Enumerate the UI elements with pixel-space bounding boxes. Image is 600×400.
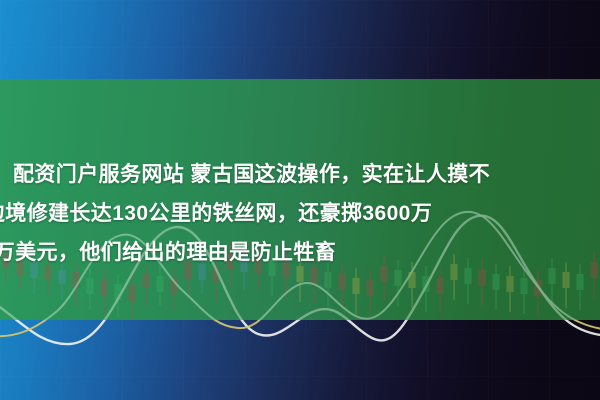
headline-line-1: 配资门户服务网站 蒙古国这波操作，实在让人摸不 bbox=[13, 155, 600, 194]
headline-text: 配资门户服务网站 蒙古国这波操作，实在让人摸不 中蒙边境修建长达130公里的铁丝… bbox=[13, 155, 600, 272]
headline-line-2: 中蒙边境修建长达130公里的铁丝网，还豪掷3600万 bbox=[0, 194, 600, 233]
headline-line-3: 丝网，还豪掷3600万美元，他们给出的理由是防止牲畜 bbox=[0, 233, 600, 272]
banner-image: 配资门户服务网站 蒙古国这波操作，实在让人摸不 中蒙边境修建长达130公里的铁丝… bbox=[0, 0, 600, 400]
